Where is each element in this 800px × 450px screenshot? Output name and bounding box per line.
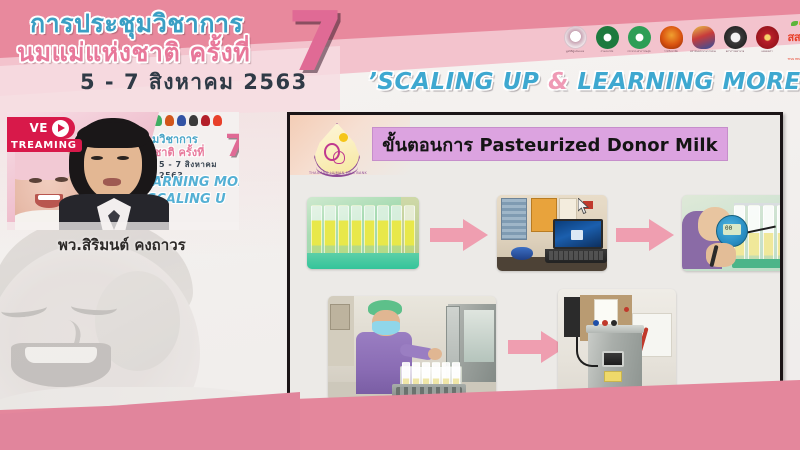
logo-caption: แพทยสภา: [754, 50, 780, 54]
photo-window-blinds: [501, 198, 527, 240]
slide-title-box: ขั้นตอนการ Pasteurized Donor Milk: [372, 127, 728, 161]
green-tray: [732, 259, 783, 268]
bottle-column: [351, 205, 362, 255]
laptop-screen: [553, 219, 603, 249]
slide-title: ขั้นตอนการ Pasteurized Donor Milk: [382, 130, 717, 159]
logo-caption: สภาการพยาบาล: [722, 50, 748, 54]
nursing-council-logo-icon: [724, 26, 747, 49]
nursing-council-logo: สภาการพยาบาล: [722, 26, 748, 60]
live-video-player[interactable]: การประชุมวิชาการ นมแม่แห่งชาติ ครั้งที่ …: [7, 112, 239, 230]
play-icon: [52, 120, 69, 137]
leaf-icon: [791, 21, 798, 26]
computer-mouse: [511, 247, 533, 260]
speaker-fringe: [77, 122, 149, 148]
thaihealth-logo-subtext: THAI HEALTH: [788, 57, 800, 61]
screen-window-icon: [571, 230, 583, 240]
slide-screenshot: การประชุมวิชาการ นมแม่แห่งชาติ ครั้งที่ …: [0, 0, 800, 450]
control-knob-red: [602, 320, 608, 326]
bottle-column: [364, 205, 375, 255]
slogan-ampersand: &: [548, 69, 569, 95]
bottle-column: [391, 205, 402, 255]
logo-caption: ราชวิทยาลัย: [658, 50, 684, 54]
royal-emblem-logo-icon: [692, 26, 715, 49]
department-health-logo-icon: [628, 26, 651, 49]
partner-logo-strip: มูลนิธิศูนย์นมแม่ กรมอนามัย กระทรวงสาธาร…: [562, 26, 800, 60]
slogan-suffix: LEARNING MORE’: [569, 69, 800, 95]
speaker-eye-left: [91, 156, 103, 160]
thaihealth-logo: สสส THAI HEALTH: [786, 26, 800, 60]
human-milk-bank-logo: THAILAND HUMAN MILK BANK: [308, 121, 368, 183]
control-knob-black: [611, 320, 617, 326]
bottle: [777, 205, 783, 263]
wall-red-marker: [624, 307, 629, 312]
nurse-face-mask: [372, 321, 400, 335]
bottle-column: [311, 205, 322, 255]
machine-label: [604, 371, 622, 382]
bottle-rack: [311, 205, 415, 255]
photo-dark-edge: [564, 297, 580, 337]
royal-patronage-logo: มูลนิธิศูนย์นมแม่: [562, 26, 588, 60]
royal-college-logo: ราชวิทยาลัย: [658, 26, 684, 60]
logo-caption: กรมอนามัย: [594, 50, 620, 54]
live-badge-label: VE: [30, 121, 48, 135]
live-badge: VE: [7, 117, 75, 139]
conference-slogan: ’SCALING UP & LEARNING MORE’: [368, 69, 800, 95]
bottle: [748, 205, 759, 263]
backdrop-logo-icon: [213, 115, 222, 126]
royal-emblem-logo: สถาบันพระบรมราชชนก: [690, 26, 716, 60]
bottle: [763, 205, 774, 263]
wall-cabinet: [330, 304, 350, 330]
backdrop-logo-icon: [201, 115, 210, 126]
logo-caption: มูลนิธิศูนย์นมแม่: [562, 50, 588, 54]
nurse-hand: [428, 348, 442, 360]
logo-caption: กระทรวงสาธารณสุข: [626, 50, 652, 54]
bottle-column: [338, 205, 349, 255]
child-eye-left: [29, 178, 42, 183]
timer-reading: 00: [725, 225, 732, 232]
video-progress-bar[interactable]: [7, 222, 239, 230]
milk-bottle-racks-photo: [307, 197, 419, 269]
medical-council-logo: แพทยสภา: [754, 26, 780, 60]
ministry-public-health-logo: กรมอนามัย: [594, 26, 620, 60]
control-knob-blue: [593, 320, 599, 326]
pasteurizer-top: [586, 325, 644, 333]
backdrop-logo-icon: [177, 115, 186, 126]
control-display: [602, 351, 624, 367]
bottle-column: [404, 205, 415, 255]
medical-council-logo-icon: [756, 26, 779, 49]
photo-red-object: [583, 201, 593, 209]
speaker-name: พว.สิริมนต์ คงถาวร: [58, 233, 186, 257]
digital-timer-thermometer-photo: 00: [682, 195, 783, 271]
backdrop-logo-icon: [189, 115, 198, 126]
royal-college-logo-icon: [660, 26, 683, 49]
pasteurizer-interior: [464, 310, 494, 362]
slogan-prefix: ’SCALING UP: [368, 69, 548, 95]
ministry-public-health-logo-icon: [596, 26, 619, 49]
arrow-step-2-to-3: [616, 219, 674, 251]
watermark-teeth: [25, 347, 97, 363]
logo-caption: THAILAND HUMAN MILK BANK: [308, 171, 368, 175]
computer-laptop-photo: [497, 195, 607, 271]
bottle-column: [324, 205, 335, 255]
thaihealth-logo-text: สสส: [788, 31, 800, 44]
speaker-eye-right: [117, 156, 129, 160]
thaihealth-logo-icon: สสส THAI HEALTH: [788, 26, 800, 49]
arrow-step-1-to-2: [430, 219, 488, 251]
conference-date: 5 - 7 สิงหาคม 2563: [80, 66, 308, 99]
logo-caption: สถาบันพระบรมราชชนก: [690, 50, 716, 54]
live-streaming-label: TREAMING: [7, 139, 82, 152]
photo-floor: [307, 253, 419, 269]
speaker-mouth: [103, 178, 121, 186]
nurse-loading-pasteurizer-photo: [328, 296, 496, 400]
bottle-column: [377, 205, 388, 255]
laptop-keyboard: [549, 251, 603, 260]
department-health-logo: กระทรวงสาธารณสุข: [626, 26, 652, 60]
royal-patronage-logo-icon: [564, 26, 587, 49]
droplet-dot-icon: [339, 133, 348, 142]
